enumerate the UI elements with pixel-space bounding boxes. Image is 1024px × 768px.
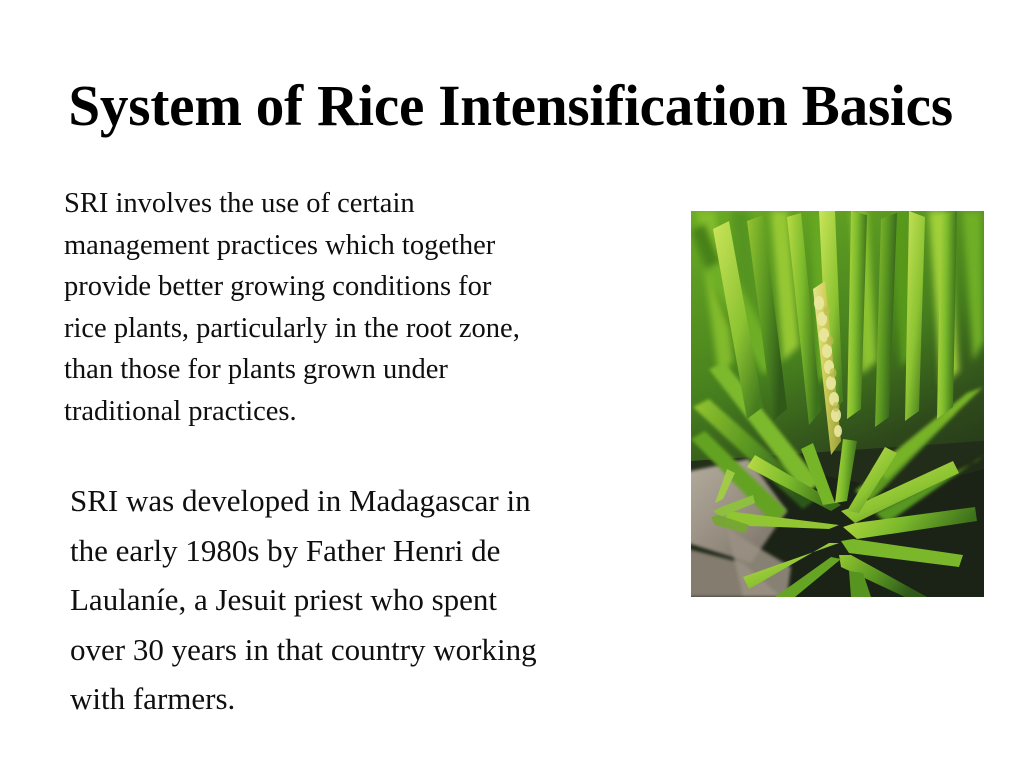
paragraph-line: than those for plants grown under [64, 349, 664, 391]
rice-plants-illustration [691, 211, 984, 597]
paragraph-sri-history: SRI was developed in Madagascar in the e… [70, 476, 690, 724]
slide: System of Rice Intensification Basics SR… [0, 0, 1024, 768]
page-title: System of Rice Intensification Basics [26, 74, 995, 138]
paragraph-line: traditional practices. [64, 391, 664, 433]
rice-plants-photo [691, 211, 984, 597]
paragraph-line: Laulaníe, a Jesuit priest who spent [70, 575, 690, 625]
paragraph-line: with farmers. [70, 674, 690, 724]
paragraph-line: provide better growing conditions for [64, 266, 664, 308]
paragraph-line: over 30 years in that country working [70, 625, 690, 675]
paragraph-sri-definition: SRI involves the use of certain manageme… [64, 183, 664, 432]
paragraph-line: SRI was developed in Madagascar in [70, 476, 690, 526]
paragraph-line: management practices which together [64, 225, 664, 267]
paragraph-line: the early 1980s by Father Henri de [70, 526, 690, 576]
paragraph-line: rice plants, particularly in the root zo… [64, 308, 664, 350]
paragraph-line: SRI involves the use of certain [64, 183, 664, 225]
